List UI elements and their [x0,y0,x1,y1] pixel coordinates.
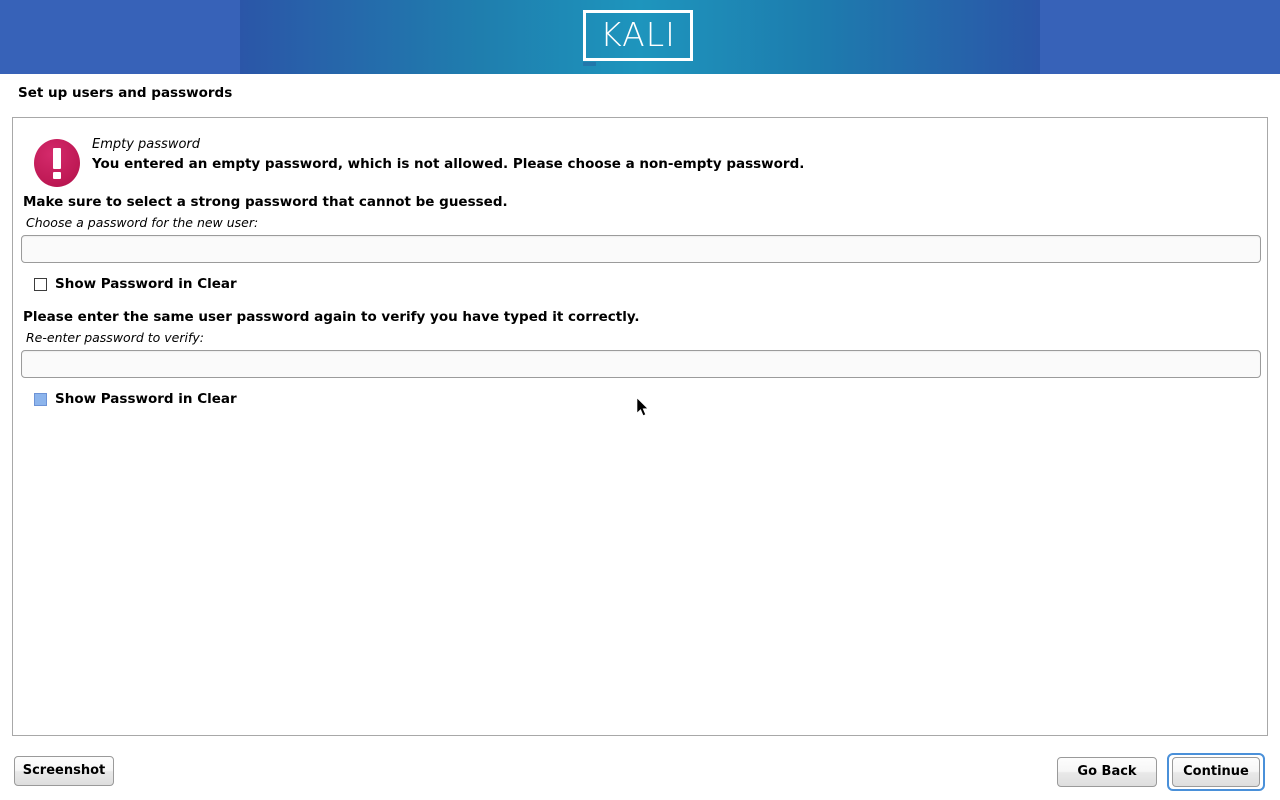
password-label: Choose a password for the new user: [26,215,258,230]
show-password-2-checkbox[interactable] [34,393,47,406]
kali-logo-notch-cut [583,62,596,66]
go-back-button[interactable]: Go Back [1057,757,1157,787]
error-icon-dot [53,172,61,179]
header-banner: KALI [0,0,1280,74]
error-message: You entered an empty password, which is … [92,156,804,172]
verify-heading: Please enter the same user password agai… [23,309,640,325]
kali-logo-text: KALI [583,10,693,61]
error-notice: Empty password You entered an empty pass… [23,128,1253,190]
error-title: Empty password [92,137,200,152]
error-icon-bar [53,148,61,169]
show-password-1-checkbox[interactable] [34,278,47,291]
error-exclamation-icon [34,139,80,187]
kali-logo-notch [583,61,597,66]
kali-logo: KALI [583,10,697,65]
password-heading: Make sure to select a strong password th… [23,194,508,210]
page-title: Set up users and passwords [18,85,232,101]
screenshot-button[interactable]: Screenshot [14,756,114,786]
verify-label: Re-enter password to verify: [26,330,204,345]
continue-button[interactable]: Continue [1172,757,1260,787]
installer-screen: KALI Set up users and passwords Empty pa… [0,0,1280,800]
verify-password-input[interactable] [21,350,1261,378]
show-password-2-label: Show Password in Clear [55,391,237,407]
main-panel: Empty password You entered an empty pass… [12,117,1268,736]
show-password-1-label: Show Password in Clear [55,276,237,292]
password-input[interactable] [21,235,1261,263]
